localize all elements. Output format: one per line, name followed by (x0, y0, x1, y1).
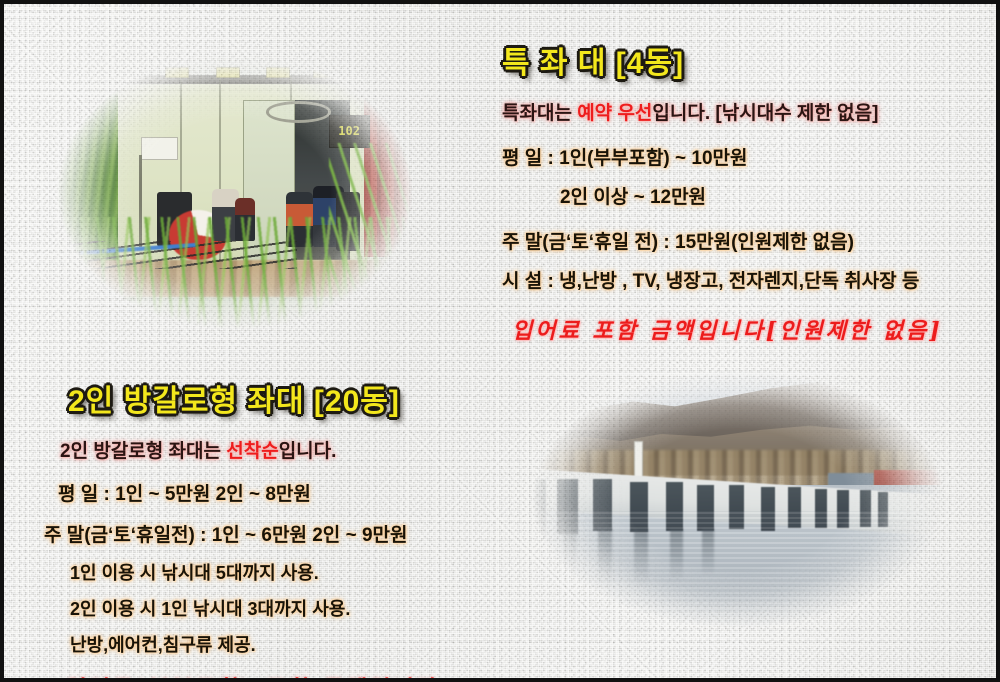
special-seats-brush-note: 입어료 포함 금액입니다[인원제한 없음] (502, 313, 943, 345)
section-special-seats: 특 좌 대 [4동] 특좌대는 예약 우선입니다. [낚시대수 제한 없음] 평… (502, 38, 943, 345)
wall-notice (141, 137, 178, 161)
bungalow-seats-brush-note: 입어료(부부포함) 포함 금액입니다 (44, 671, 436, 682)
bungalow-seats-line-4: 2인 이용 시 1인 낚시대 3대까지 사용. (44, 595, 436, 621)
section-bungalow-seats: 2인 방갈로형 좌대 [20동] 2인 방갈로형 좌대는 선착순입니다. 평 일… (44, 376, 436, 682)
foreground-reeds (40, 217, 430, 346)
lead-highlight: 예약 우선 (577, 103, 652, 124)
bungalow-seats-line-5: 난방,에어컨,침구류 제공. (44, 631, 436, 657)
lead-after: 입니다. (279, 441, 337, 462)
roof-vent-box (165, 67, 189, 78)
bungalow-seats-line-2: 주 말(금‘토‘휴일전) : 1인 ~ 6만원 2인 ~ 9만원 (44, 520, 436, 547)
special-seats-lead: 특좌대는 예약 우선입니다. [낚시대수 제한 없음] (502, 98, 943, 125)
photo-lake-frame (512, 354, 964, 644)
special-seats-headline: 특 좌 대 [4동] (502, 38, 943, 82)
photo-cabins-frame: 102 (40, 38, 430, 346)
special-seats-line-2: 2인 이상 ~ 12만원 (502, 182, 943, 209)
lead-after: 입니다. [낚시대수 제한 없음] (652, 103, 878, 124)
lead-before: 2인 방갈로형 좌대는 (60, 441, 226, 462)
roof-vent-box (266, 67, 290, 78)
shore-post (634, 441, 643, 478)
bungalow-seats-line-3: 1인 이용 시 낚시대 5대까지 사용. (44, 559, 436, 585)
roof-vent-box (216, 67, 240, 78)
water-ripples (512, 511, 964, 644)
special-seats-line-3: 주 말(금‘토‘휴일 전) : 15만원(인원제한 없음) (502, 227, 943, 254)
bungalow-seats-headline: 2인 방갈로형 좌대 [20동] (44, 376, 436, 420)
roof-vent-box (313, 67, 337, 78)
door-canopy (266, 101, 331, 122)
photo-lake (512, 354, 964, 644)
bungalow-seats-lead: 2인 방갈로형 좌대는 선착순입니다. (44, 436, 436, 463)
lead-highlight: 선착순 (226, 441, 278, 462)
special-seats-line-4: 시 설 : 냉,난방 , TV, 냉장고, 전자렌지,단독 취사장 등 (502, 266, 943, 293)
poster-root: 102 (0, 0, 1000, 682)
bungalow-seats-line-1: 평 일 : 1인 ~ 5만원 2인 ~ 8만원 (44, 479, 436, 506)
photo-cabins: 102 (40, 38, 430, 346)
lead-before: 특좌대는 (502, 103, 577, 124)
special-seats-line-1: 평 일 : 1인(부부포함) ~ 10만원 (502, 143, 943, 170)
